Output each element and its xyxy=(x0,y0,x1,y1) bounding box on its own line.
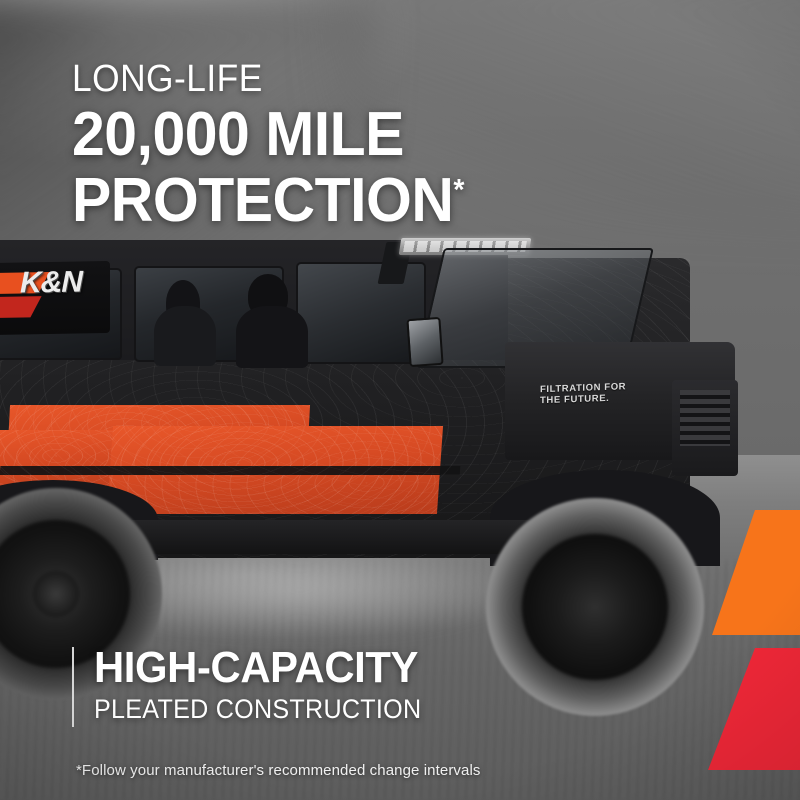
feature-subtitle: PLEATED CONSTRUCTION xyxy=(94,694,687,724)
headline-line-1: 20,000 MILE xyxy=(72,104,680,166)
headline-line-2-text: PROTECTION xyxy=(72,166,453,235)
feature-divider-rule xyxy=(72,647,74,727)
vehicle-suv: FILTRATION FOR THE FUTURE. xyxy=(0,230,800,660)
footnote-disclaimer: *Follow your manufacturer's recommended … xyxy=(76,762,480,780)
hood-decal: FILTRATION FOR THE FUTURE. xyxy=(540,380,670,407)
feature-title: HIGH-CAPACITY xyxy=(94,645,700,691)
window-front xyxy=(296,262,426,364)
feature-text: HIGH-CAPACITY PLEATED CONSTRUCTION xyxy=(94,645,732,724)
kn-logo: K&N xyxy=(0,261,110,335)
headline-block: LONG-LIFE 20,000 MILE PROTECTION* xyxy=(72,58,712,232)
driver-body xyxy=(236,306,308,368)
headline-asterisk: * xyxy=(453,173,464,206)
vehicle-grille xyxy=(672,380,738,476)
kn-logo-stripe-red xyxy=(0,296,42,319)
ad-creative: FILTRATION FOR THE FUTURE. K&N LONG-LIFE… xyxy=(0,0,800,800)
headline-eyebrow: LONG-LIFE xyxy=(72,58,667,100)
kn-logo-text: K&N xyxy=(20,267,82,298)
headline-line-2: PROTECTION* xyxy=(72,170,680,232)
side-mirror xyxy=(406,317,443,367)
vehicle-body-stripe xyxy=(0,466,460,475)
passenger-body xyxy=(154,306,216,366)
feature-block: HIGH-CAPACITY PLEATED CONSTRUCTION xyxy=(72,645,732,724)
